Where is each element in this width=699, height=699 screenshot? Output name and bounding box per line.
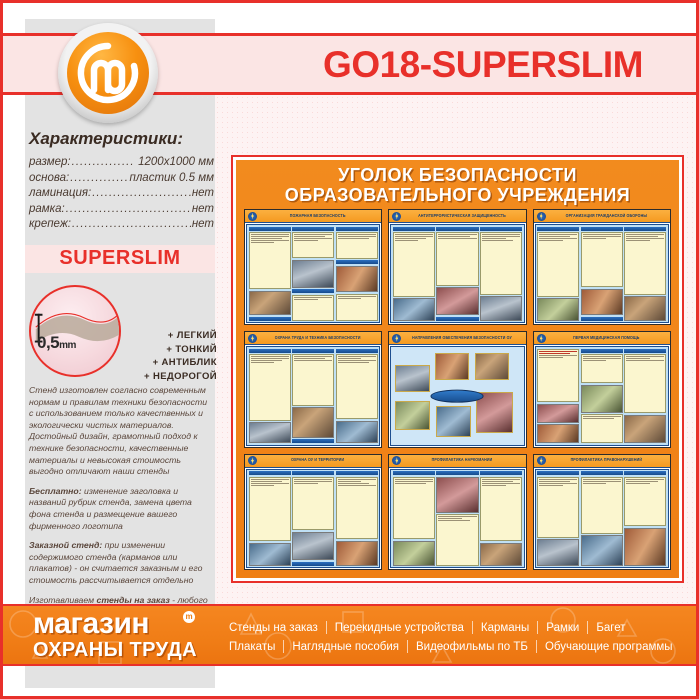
diagram-center-node <box>431 390 484 403</box>
emblem-icon <box>537 334 546 343</box>
spec-key-mount: крепеж: <box>29 217 71 233</box>
registered-trademark-icon: m <box>183 611 195 623</box>
footer-menu-row-2: Плакаты Наглядные пособия Видеофильмы по… <box>221 640 690 653</box>
poster-text-block <box>436 514 478 566</box>
poster-photo <box>581 385 623 413</box>
poster-subheader <box>336 227 378 231</box>
poster-subheader <box>292 439 334 443</box>
stand-canvas: УГОЛОК БЕЗОПАСНОСТИ ОБРАЗОВАТЕЛЬНОГО УЧР… <box>236 160 679 578</box>
footer-bar: магазин ОХРАНЫ ТРУДА m Стенды на заказ П… <box>3 604 696 666</box>
spec-value-mount: нет <box>192 217 214 233</box>
poster-photo <box>393 541 435 566</box>
poster-text-block <box>249 232 291 289</box>
stand-heading: УГОЛОК БЕЗОПАСНОСТИ ОБРАЗОВАТЕЛЬНОГО УЧР… <box>244 165 671 209</box>
menu-item-training-programs[interactable]: Обучающие программы <box>537 641 681 653</box>
poster-photo <box>480 296 522 321</box>
poster-panel-title: ПОЖАРНАЯ БЕЗОПАСНОСТЬ <box>257 213 378 220</box>
spec-dots: ................................ <box>65 202 192 218</box>
bullet-antiglare: + АНТИБЛИК <box>121 356 217 370</box>
poster-panel-title: ПЕРВАЯ МЕДИЦИНСКАЯ ПОМОЩЬ <box>546 335 667 342</box>
poster-photo <box>537 298 579 321</box>
poster-text-block <box>336 354 378 419</box>
emblem-icon <box>392 456 401 465</box>
poster-panel[interactable]: ПРОФИЛАКТИКА НАРКОМАНИИ <box>388 454 526 570</box>
poster-photo <box>393 298 435 321</box>
poster-text-block <box>480 477 522 542</box>
poster-subheader <box>436 317 478 321</box>
poster-panel-header: ОРГАНИЗАЦИЯ ГРАЖДАНСКОЙ ОБОРОНЫ <box>534 210 670 223</box>
poster-text-block <box>336 477 378 540</box>
bullet-light: + ЛЕГКИЙ <box>121 329 217 343</box>
poster-column <box>624 227 666 321</box>
poster-text-block <box>581 232 623 287</box>
emblem-icon <box>537 212 546 221</box>
stand-preview[interactable]: УГОЛОК БЕЗОПАСНОСТИ ОБРАЗОВАТЕЛЬНОГО УЧР… <box>231 155 684 583</box>
spec-key-size: размер: <box>29 155 71 171</box>
poster-subheader <box>249 317 291 321</box>
poster-column <box>537 349 579 443</box>
spec-row-mount: крепеж: .............................. н… <box>29 217 214 233</box>
poster-column <box>436 227 478 321</box>
poster-subheader <box>480 227 522 231</box>
poster-photo <box>436 406 470 437</box>
poster-text-block <box>537 232 579 297</box>
poster-text-block <box>292 232 334 258</box>
poster-text-block <box>624 232 666 295</box>
spec-dots: ............... <box>69 171 129 187</box>
description-paragraph-custom: Заказной стенд: при изменении содержимог… <box>29 540 209 586</box>
stand-poster-grid: ПОЖАРНАЯ БЕЗОПАСНОСТЬ <box>244 209 671 570</box>
poster-panel-body <box>246 469 380 568</box>
poster-photo <box>336 421 378 444</box>
poster-subheader <box>581 471 623 475</box>
poster-subheader <box>336 260 378 264</box>
poster-photo <box>249 291 291 316</box>
poster-photo <box>581 535 623 565</box>
poster-panel-title: ОХРАНА ТРУДА И ТЕХНИКА БЕЗОПАСНОСТИ <box>257 335 378 342</box>
poster-panel-body <box>535 346 669 445</box>
spec-row-lamination: ламинация: ............................ … <box>29 186 214 202</box>
spec-value-lamination: нет <box>192 186 214 202</box>
emblem-icon <box>537 456 546 465</box>
logo-m-glyph-icon <box>67 32 149 114</box>
description-paragraph-free: Бесплатно: изменение заголовка и названи… <box>29 486 209 532</box>
poster-column <box>537 471 579 565</box>
poster-column <box>292 227 334 321</box>
poster-photo <box>537 404 579 423</box>
spec-key-frame: рамка: <box>29 202 65 218</box>
poster-text-block <box>249 477 291 542</box>
poster-panel-title: ОРГАНИЗАЦИЯ ГРАЖДАНСКОЙ ОБОРОНЫ <box>546 213 667 220</box>
poster-subheader <box>292 562 334 566</box>
menu-item-baguette[interactable]: Багет <box>588 622 633 634</box>
poster-photo <box>292 532 334 560</box>
emblem-icon <box>248 212 257 221</box>
spec-row-frame: рамка: ................................ … <box>29 202 214 218</box>
poster-photo <box>249 422 291 443</box>
poster-column <box>624 349 666 443</box>
poster-photo <box>436 477 478 513</box>
poster-photo <box>395 401 429 430</box>
poster-subheader <box>292 349 334 353</box>
spec-key-base: основа: <box>29 171 69 187</box>
peeling-sheet-icon <box>31 287 119 375</box>
feature-bullet-list: + ЛЕГКИЙ + ТОНКИЙ + АНТИБЛИК + НЕДОРОГОЙ <box>121 329 217 383</box>
poster-panel-header: ПЕРВАЯ МЕДИЦИНСКАЯ ПОМОЩЬ <box>534 332 670 345</box>
poster-panel-title: НАПРАВЛЕНИЯ ОБЕСПЕЧЕНИЯ БЕЗОПАСНОСТИ ОУ <box>401 335 522 342</box>
poster-text-block <box>292 295 334 321</box>
poster-subheader <box>336 471 378 475</box>
poster-subheader <box>480 471 522 475</box>
poster-panel-body <box>246 346 380 445</box>
poster-column <box>537 227 579 321</box>
emblem-icon <box>392 334 401 343</box>
spec-value-frame: нет <box>192 202 214 218</box>
poster-text-block <box>624 354 666 413</box>
poster-text-block <box>393 477 435 540</box>
poster-text-block <box>336 294 378 321</box>
footer-menu: Стенды на заказ Перекидные устройства Ка… <box>221 606 690 666</box>
poster-subheader <box>249 471 291 475</box>
spec-row-base: основа: ............... пластик 0.5 мм <box>29 171 214 187</box>
poster-photo <box>624 296 666 321</box>
poster-panel[interactable]: ПЕРВАЯ МЕДИЦИНСКАЯ ПОМОЩЬ <box>533 331 671 447</box>
shop-logo-line2: ОХРАНЫ ТРУДА <box>23 639 213 661</box>
spec-dots: ............................ <box>91 186 192 202</box>
description-paragraph-manufacturing: Стенд изготовлен согласно современным но… <box>29 385 209 478</box>
spec-list: Характеристики: размер: ............... … <box>29 129 214 233</box>
poster-column <box>336 227 378 321</box>
poster-panel-body <box>390 469 524 568</box>
poster-panel-header: ПОЖАРНАЯ БЕЗОПАСНОСТЬ <box>245 210 381 223</box>
bullet-thin: + ТОНКИЙ <box>121 343 217 357</box>
poster-panel[interactable]: ОХРАНА ОУ И ТЕРРИТОРИИ <box>244 454 382 570</box>
poster-photo <box>436 287 478 315</box>
thickness-value: 0,5mm <box>37 333 76 353</box>
poster-text-block <box>537 349 579 403</box>
stand-heading-line1: УГОЛОК БЕЗОПАСНОСТИ <box>244 165 671 185</box>
emblem-icon <box>248 456 257 465</box>
poster-panel[interactable]: ОХРАНА ТРУДА И ТЕХНИКА БЕЗОПАСНОСТИ <box>244 331 382 447</box>
poster-subheader <box>436 227 478 231</box>
poster-subheader <box>537 227 579 231</box>
poster-subheader <box>292 227 334 231</box>
poster-text-block <box>292 477 334 531</box>
footer-menu-row-1: Стенды на заказ Перекидные устройства Ка… <box>221 621 690 634</box>
poster-column <box>292 471 334 565</box>
poster-text-block <box>624 477 666 527</box>
poster-subheader <box>249 227 291 231</box>
poster-column <box>249 471 291 565</box>
poster-photo <box>336 266 378 292</box>
spec-value-base: пластик 0.5 мм <box>129 171 214 187</box>
bullet-cheap: + НЕДОРОГОЙ <box>121 370 217 384</box>
poster-text-block <box>581 354 623 383</box>
poster-photo <box>395 365 429 392</box>
poster-text-block <box>249 354 291 421</box>
poster-subheader <box>393 471 435 475</box>
poster-subheader <box>249 349 291 353</box>
poster-subheader <box>336 349 378 353</box>
poster-column <box>249 227 291 321</box>
poster-panel-body <box>390 224 524 323</box>
poster-panel-body <box>535 469 669 568</box>
spec-dots: ............... <box>71 155 138 171</box>
menu-item-frames[interactable]: Рамки <box>538 622 587 634</box>
poster-column <box>436 471 478 565</box>
poster-text-block <box>537 477 579 538</box>
poster-text-block <box>581 477 623 534</box>
poster-photo <box>249 543 291 566</box>
thickness-illustration <box>29 285 121 377</box>
poster-panel-header: ПРОФИЛАКТИКА ПРАВОНАРУШЕНИЙ <box>534 455 670 468</box>
poster-subheader <box>581 317 623 321</box>
brand-logo <box>58 23 158 123</box>
poster-column <box>581 349 623 443</box>
poster-subheader <box>624 227 666 231</box>
poster-text-block <box>581 414 623 443</box>
shop-logo[interactable]: магазин ОХРАНЫ ТРУДА m <box>23 609 213 665</box>
menu-item-custom-stands[interactable]: Стенды на заказ <box>221 622 326 634</box>
poster-panel-title: ПРОФИЛАКТИКА ПРАВОНАРУШЕНИЙ <box>546 457 667 464</box>
poster-column <box>393 227 435 321</box>
poster-panel-body <box>535 224 669 323</box>
page-title: GO18-SUPERSLIM <box>283 39 683 91</box>
spec-dots: .............................. <box>71 217 192 233</box>
spec-title: Характеристики: <box>29 129 214 149</box>
poster-column <box>249 349 291 443</box>
poster-photo <box>292 407 334 437</box>
poster-panel[interactable]: НАПРАВЛЕНИЯ ОБЕСПЕЧЕНИЯ БЕЗОПАСНОСТИ ОУ <box>388 331 526 447</box>
poster-photo <box>624 415 666 443</box>
poster-subheader <box>393 227 435 231</box>
poster-column <box>393 471 435 565</box>
poster-panel-title: ОХРАНА ОУ И ТЕРРИТОРИИ <box>257 457 378 464</box>
poster-subheader <box>537 471 579 475</box>
poster-subheader <box>436 471 478 475</box>
poster-panel-header: ПРОФИЛАКТИКА НАРКОМАНИИ <box>389 455 525 468</box>
poster-subheader <box>292 471 334 475</box>
poster-photo <box>537 539 579 565</box>
poster-subheader <box>624 471 666 475</box>
menu-item-pockets[interactable]: Карманы <box>473 622 537 634</box>
poster-panel-title: ПРОФИЛАКТИКА НАРКОМАНИИ <box>401 457 522 464</box>
spec-key-lamination: ламинация: <box>29 186 91 202</box>
description-block: Стенд изготовлен согласно современным но… <box>29 385 209 637</box>
stand-heading-line2: ОБРАЗОВАТЕЛЬНОГО УЧРЕЖДЕНИЯ <box>244 185 671 205</box>
poster-column <box>581 471 623 565</box>
poster-column <box>336 471 378 565</box>
poster-subheader <box>581 349 623 353</box>
poster-subheader <box>624 349 666 353</box>
poster-photo <box>581 289 623 315</box>
poster-text-block <box>436 232 478 286</box>
poster-column <box>480 227 522 321</box>
poster-column <box>336 349 378 443</box>
poster-column <box>624 471 666 565</box>
poster-photo <box>475 353 509 380</box>
poster-panel[interactable]: ПРОФИЛАКТИКА ПРАВОНАРУШЕНИЙ <box>533 454 671 570</box>
poster-text-block <box>393 232 435 297</box>
poster-panel-header: ОХРАНА ОУ И ТЕРРИТОРИИ <box>245 455 381 468</box>
poster-panel[interactable]: ПОЖАРНАЯ БЕЗОПАСНОСТЬ <box>244 209 382 325</box>
poster-subheader <box>581 227 623 231</box>
poster-panel-title: АНТИТЕРРОРИСТИЧЕСКАЯ ЗАЩИЩЕННОСТЬ <box>401 213 522 220</box>
menu-item-flip-devices[interactable]: Перекидные устройства <box>327 622 472 634</box>
emblem-icon <box>248 334 257 343</box>
poster-column <box>581 227 623 321</box>
menu-item-videos[interactable]: Видеофильмы по ТБ <box>408 641 536 653</box>
poster-subheader <box>292 289 334 293</box>
poster-column <box>480 471 522 565</box>
poster-photo <box>537 424 579 443</box>
poster-panel-body <box>246 224 380 323</box>
poster-panel-body-diagram <box>390 346 524 445</box>
poster-photo <box>292 260 334 288</box>
poster-panel-header: НАПРАВЛЕНИЯ ОБЕСПЕЧЕНИЯ БЕЗОПАСНОСТИ ОУ <box>389 332 525 345</box>
poster-text-block <box>292 354 334 406</box>
poster-panel-header: АНТИТЕРРОРИСТИЧЕСКАЯ ЗАЩИЩЕННОСТЬ <box>389 210 525 223</box>
poster-panel[interactable]: АНТИТЕРРОРИСТИЧЕСКАЯ ЗАЩИЩЕННОСТЬ <box>388 209 526 325</box>
poster-panel[interactable]: ОРГАНИЗАЦИЯ ГРАЖДАНСКОЙ ОБОРОНЫ <box>533 209 671 325</box>
brand-name-superslim: SUPERSLIM <box>25 247 215 270</box>
menu-item-posters[interactable]: Плакаты <box>221 641 283 653</box>
emblem-icon <box>392 212 401 221</box>
spec-row-size: размер: ............... 1200х1000 мм <box>29 155 214 171</box>
poster-text-block <box>336 232 378 259</box>
bottom-grey-strip <box>25 666 215 688</box>
poster-photo <box>480 543 522 566</box>
poster-panel-header: ОХРАНА ТРУДА И ТЕХНИКА БЕЗОПАСНОСТИ <box>245 332 381 345</box>
poster-column <box>292 349 334 443</box>
page-root: GO18-SUPERSLIM Характеристики: размер: .… <box>0 0 699 699</box>
poster-photo <box>624 528 666 566</box>
menu-item-visual-aids[interactable]: Наглядные пособия <box>284 641 407 653</box>
poster-photo <box>336 541 378 566</box>
poster-photo <box>435 353 469 380</box>
poster-text-block <box>480 232 522 295</box>
spec-value-size: 1200х1000 мм <box>138 155 214 171</box>
